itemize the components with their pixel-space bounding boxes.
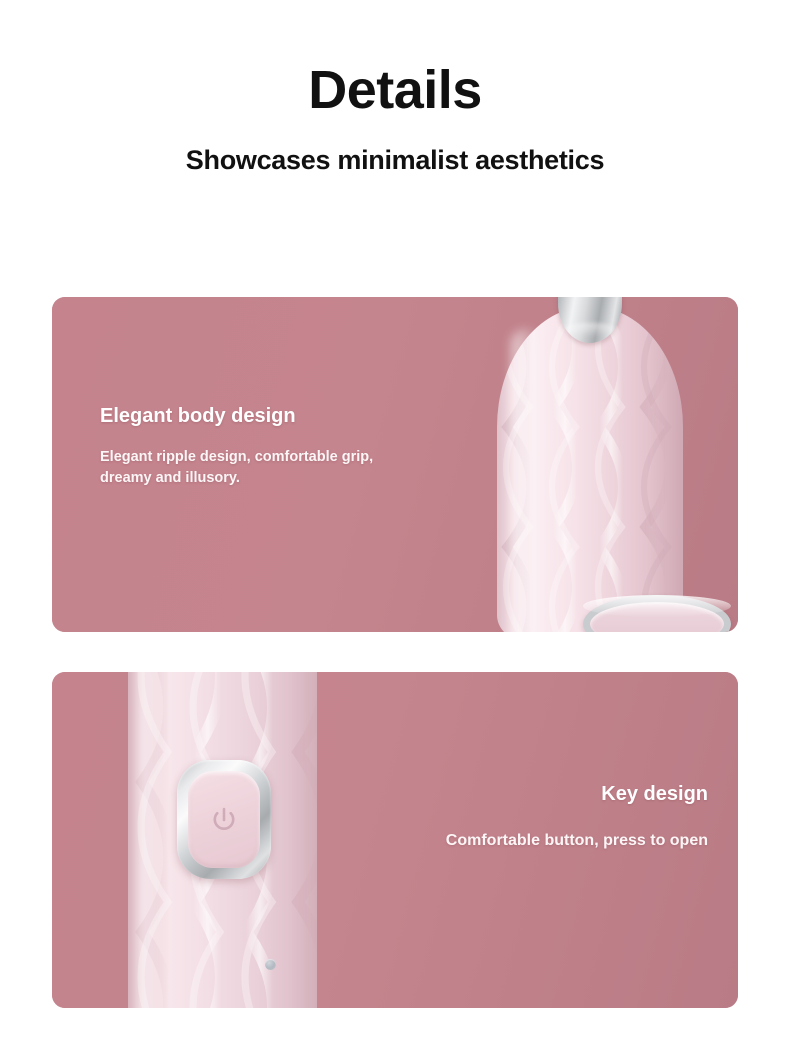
feature-card-elegant-body-design: Elegant body design Elegant ripple desig… [52, 297, 738, 632]
body-highlight [138, 672, 164, 1008]
product-image-button [128, 672, 317, 1008]
power-button-face[interactable] [188, 771, 260, 868]
power-icon [208, 804, 240, 836]
led-indicator-icon [265, 959, 276, 970]
card-text-block: Elegant body design Elegant ripple desig… [100, 404, 400, 490]
power-button[interactable] [177, 760, 271, 879]
card-description: Comfortable button, press to open [308, 829, 708, 853]
card-text-block: Key design Comfortable button, press to … [308, 782, 708, 853]
product-image-body [497, 297, 683, 632]
card-description: Elegant ripple design, comfortable grip,… [100, 447, 400, 490]
chrome-ring-icon [583, 595, 731, 632]
card-heading: Key design [308, 782, 708, 806]
page-header: Details Showcases minimalist aesthetics [0, 0, 790, 176]
product-details-page: Details Showcases minimalist aesthetics [0, 0, 790, 1057]
card-heading: Elegant body design [100, 404, 400, 428]
device-body [497, 307, 683, 632]
page-subtitle: Showcases minimalist aesthetics [0, 145, 790, 176]
page-title: Details [0, 62, 790, 119]
feature-card-key-design: Key design Comfortable button, press to … [52, 672, 738, 1008]
body-highlight [511, 329, 541, 632]
